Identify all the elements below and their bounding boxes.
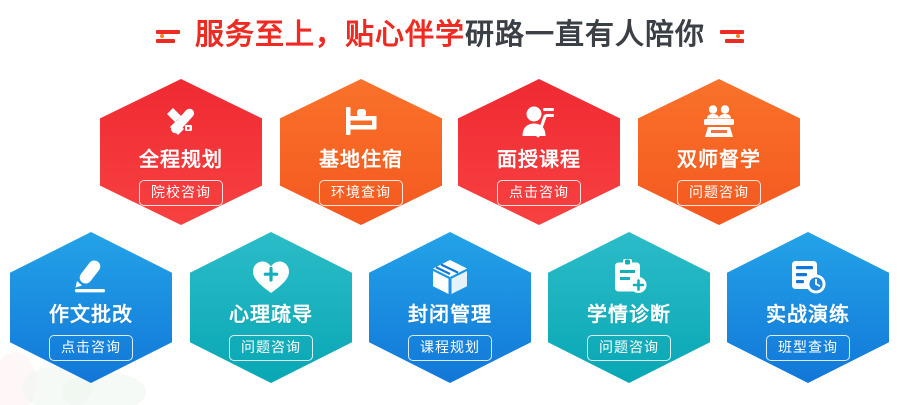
feature-card-cta[interactable]: 环境查询 [319,180,403,206]
feature-card-shuangshi-duxue[interactable]: 双师督学 问题咨询 [638,79,800,225]
podium-icon [698,103,740,141]
promo-banner: 服务至上，贴心伴学研路一直有人陪你 全程规划 院校咨询 [0,0,900,405]
feature-card-cta[interactable]: 问题咨询 [229,335,313,361]
feature-card-title: 封闭管理 [408,303,492,327]
feature-card-quancheng-guihua[interactable]: 全程规划 院校咨询 [100,79,262,225]
feature-card-title: 基地住宿 [319,148,403,172]
feature-card-cta[interactable]: 点击咨询 [497,180,581,206]
feature-card-xinli-shudao[interactable]: 心理疏导 问题咨询 [190,232,352,383]
dash-decoration-right-icon [718,26,744,46]
box-icon [431,258,469,296]
feature-card-shizhan-yanlian[interactable]: 实战演练 班型查询 [727,232,889,383]
clipboard-plus-icon [610,258,648,296]
feature-card-title: 学情诊断 [587,303,671,327]
document-clock-icon [789,258,827,296]
feature-card-title: 实战演练 [766,303,850,327]
feature-card-cta[interactable]: 问题咨询 [677,180,761,206]
feature-card-fengbi-guanli[interactable]: 封闭管理 课程规划 [369,232,531,383]
teacher-icon [519,103,559,141]
feature-card-cta[interactable]: 院校咨询 [139,180,223,206]
feature-card-title: 面授课程 [497,148,581,172]
page-title-rest: 研路一直有人陪你 [465,19,705,51]
heart-plus-icon [251,258,291,296]
feature-card-cta[interactable]: 课程规划 [408,335,492,361]
page-title-highlight: 服务至上，贴心伴学 [195,19,465,51]
page-title: 服务至上，贴心伴学研路一直有人陪你 [0,16,900,54]
dash-decoration-left-icon [156,26,182,46]
feature-card-xueqing-zhenduan[interactable]: 学情诊断 问题咨询 [548,232,710,383]
feature-card-zuowen-pigai[interactable]: 作文批改 点击咨询 [10,232,172,383]
feature-card-title: 心理疏导 [229,303,313,327]
feature-card-title: 全程规划 [139,148,223,172]
feature-card-cta[interactable]: 问题咨询 [587,335,671,361]
pen-ruler-icon [161,103,201,141]
feature-card-jidi-zhusu[interactable]: 基地住宿 环境查询 [280,79,442,225]
bed-icon [341,103,381,141]
feature-card-title: 双师督学 [677,148,761,172]
feature-card-title: 作文批改 [49,303,133,327]
feature-card-cta[interactable]: 点击咨询 [49,335,133,361]
decorative-blob-left-3 [62,372,146,405]
feature-card-cta[interactable]: 班型查询 [766,335,850,361]
pencil-edit-icon [71,258,111,296]
feature-card-mianshou-kecheng[interactable]: 面授课程 点击咨询 [458,79,620,225]
